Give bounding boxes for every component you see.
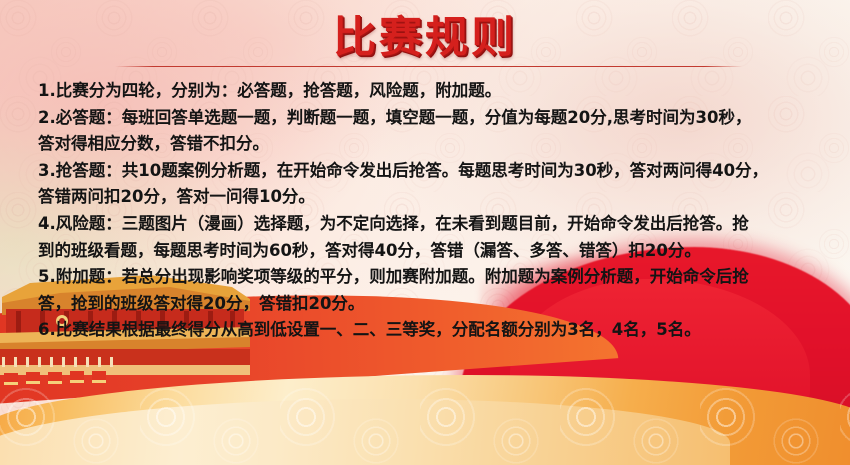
page-title: 比赛规则	[333, 3, 517, 65]
rule-line: 答对得相应分数，答错不扣分。	[38, 131, 828, 158]
gold-cloud-swirls	[0, 355, 850, 465]
rule-line: 3.抢答题：共10题案例分析题，在开始命令发出后抢答。每题思考时间为30秒，答对…	[38, 158, 828, 185]
slide-canvas: 比赛规则 1.比赛分为四轮，分别为：必答题，抢答题，风险题，附加题。 2.必答题…	[0, 0, 850, 465]
rule-line: 4.风险题：三题图片（漫画）选择题，为不定向选择，在未看到题目前，开始命令发出后…	[38, 211, 828, 238]
rule-line: 1.比赛分为四轮，分别为：必答题，抢答题，风险题，附加题。	[38, 78, 828, 105]
rule-line: 6.比赛结果根据最终得分从高到低设置一、二、三等奖，分配名额分别为3名，4名，5…	[38, 317, 828, 344]
title-divider	[115, 66, 742, 67]
title-container: 比赛规则	[0, 3, 850, 65]
rule-line: 答错两问扣20分，答对一问得10分。	[38, 184, 828, 211]
rule-line: 5.附加题：若总分出现影响奖项等级的平分，则加赛附加题。附加题为案例分析题，开始…	[38, 264, 828, 291]
rules-list: 1.比赛分为四轮，分别为：必答题，抢答题，风险题，附加题。 2.必答题：每班回答…	[38, 78, 828, 344]
rule-line: 答，抢到的班级答对得20分，答错扣20分。	[38, 291, 828, 318]
rule-line: 2.必答题：每班回答单选题一题，判断题一题，填空题一题，分值为每题20分,思考时…	[38, 105, 828, 132]
rule-line: 到的班级看题，每题思考时间为60秒，答对得40分，答错（漏答、多答、错答）扣20…	[38, 238, 828, 265]
